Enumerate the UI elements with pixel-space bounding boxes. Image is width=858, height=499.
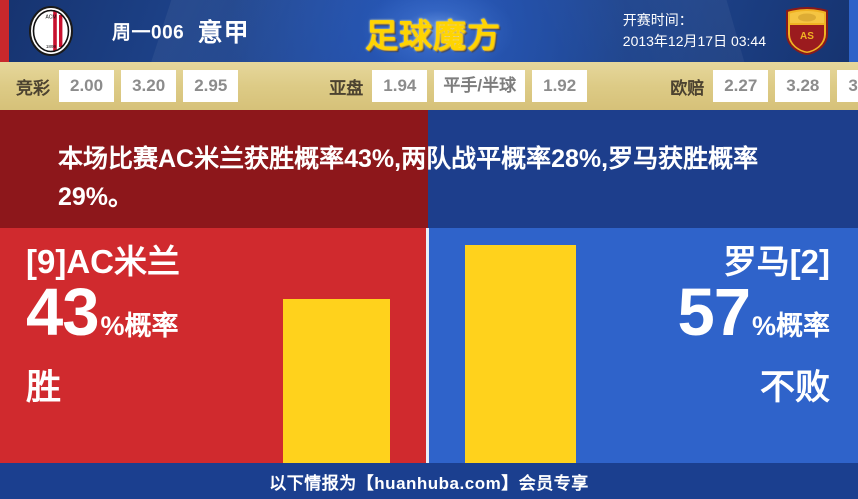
as-roma-crest-icon: AS: [782, 6, 832, 56]
header-bar: ACM 1899 周一006 意甲 足球魔方 开赛时间： 2013年12月17日…: [0, 0, 858, 62]
site-logo-text: 足球魔方: [335, 9, 531, 57]
footer-bar: 以下情报为【huanhuba.com】会员专享: [0, 463, 858, 499]
header-left-red-stripe: [0, 0, 9, 62]
home-outcome-label: 胜: [26, 366, 276, 410]
svg-text:1899: 1899: [46, 44, 57, 49]
odds-group-yapan: 亚盘 1.94 平手/半球 1.92: [329, 62, 594, 110]
odds-cell[interactable]: 3.20: [121, 70, 176, 102]
match-title: 周一006 意甲: [112, 13, 250, 49]
home-probability-line: 43%概率: [26, 280, 276, 364]
header-right-blue-stripe: [849, 0, 858, 62]
home-team-info: [9]AC米兰 43%概率 胜: [26, 242, 276, 410]
odds-bar: 竞彩 2.00 3.20 2.95 亚盘 1.94 平手/半球 1.92 欧赔 …: [0, 62, 858, 110]
odds-group-label: 竞彩: [16, 74, 50, 99]
odds-cell[interactable]: 2.95: [183, 70, 238, 102]
summary-text: 本场比赛AC米兰获胜概率43%,两队战平概率28%,罗马获胜概率29%。: [58, 140, 786, 216]
kickoff-time: 开赛时间： 2013年12月17日 03:44: [623, 10, 766, 52]
odds-cell[interactable]: 2.27: [713, 70, 768, 102]
site-logo: 足球魔方: [335, 2, 531, 60]
match-prediction-graphic: ACM 1899 周一006 意甲 足球魔方 开赛时间： 2013年12月17日…: [0, 0, 858, 499]
away-probability-bar: [465, 245, 576, 463]
away-probability-unit: %概率: [752, 311, 830, 341]
odds-cell[interactable]: 1.94: [372, 70, 427, 102]
kickoff-value: 2013年12月17日 03:44: [623, 31, 766, 52]
odds-cell[interactable]: 3.28: [775, 70, 830, 102]
odds-group-label: 亚盘: [329, 74, 363, 99]
away-probability-line: 57%概率: [575, 280, 830, 364]
home-probability-unit: %概率: [101, 311, 179, 341]
odds-cell[interactable]: 2.00: [59, 70, 114, 102]
match-league-label: 意甲: [198, 19, 250, 47]
odds-handicap-cell[interactable]: 平手/半球: [434, 70, 525, 102]
home-probability-value: 43: [26, 275, 99, 350]
summary-banner: 本场比赛AC米兰获胜概率43%,两队战平概率28%,罗马获胜概率29%。: [0, 110, 858, 228]
odds-group-oupei: 欧赔 2.27 3.28 3.06: [670, 62, 858, 110]
odds-group-label: 欧赔: [670, 74, 704, 99]
away-outcome-label: 不败: [575, 366, 830, 410]
away-team-info: 罗马[2] 57%概率 不败: [575, 242, 830, 410]
ac-milan-crest-icon: ACM 1899: [25, 5, 77, 57]
svg-text:AS: AS: [800, 31, 814, 42]
away-probability-value: 57: [677, 275, 750, 350]
svg-text:ACM: ACM: [45, 15, 56, 21]
odds-cell[interactable]: 3.06: [837, 70, 858, 102]
home-probability-bar: [283, 299, 390, 463]
home-team-panel: [9]AC米兰 43%概率 胜: [0, 228, 426, 463]
away-team-panel: 罗马[2] 57%概率 不败: [429, 228, 858, 463]
kickoff-label: 开赛时间：: [623, 10, 766, 31]
odds-cell[interactable]: 1.92: [532, 70, 587, 102]
footer-text: 以下情报为【huanhuba.com】会员专享: [269, 469, 588, 494]
odds-group-jingcai: 竞彩 2.00 3.20 2.95: [16, 62, 245, 110]
match-round-label: 周一006: [112, 23, 184, 44]
probability-panels: [9]AC米兰 43%概率 胜 罗马[2] 57%概率 不败: [0, 228, 858, 463]
